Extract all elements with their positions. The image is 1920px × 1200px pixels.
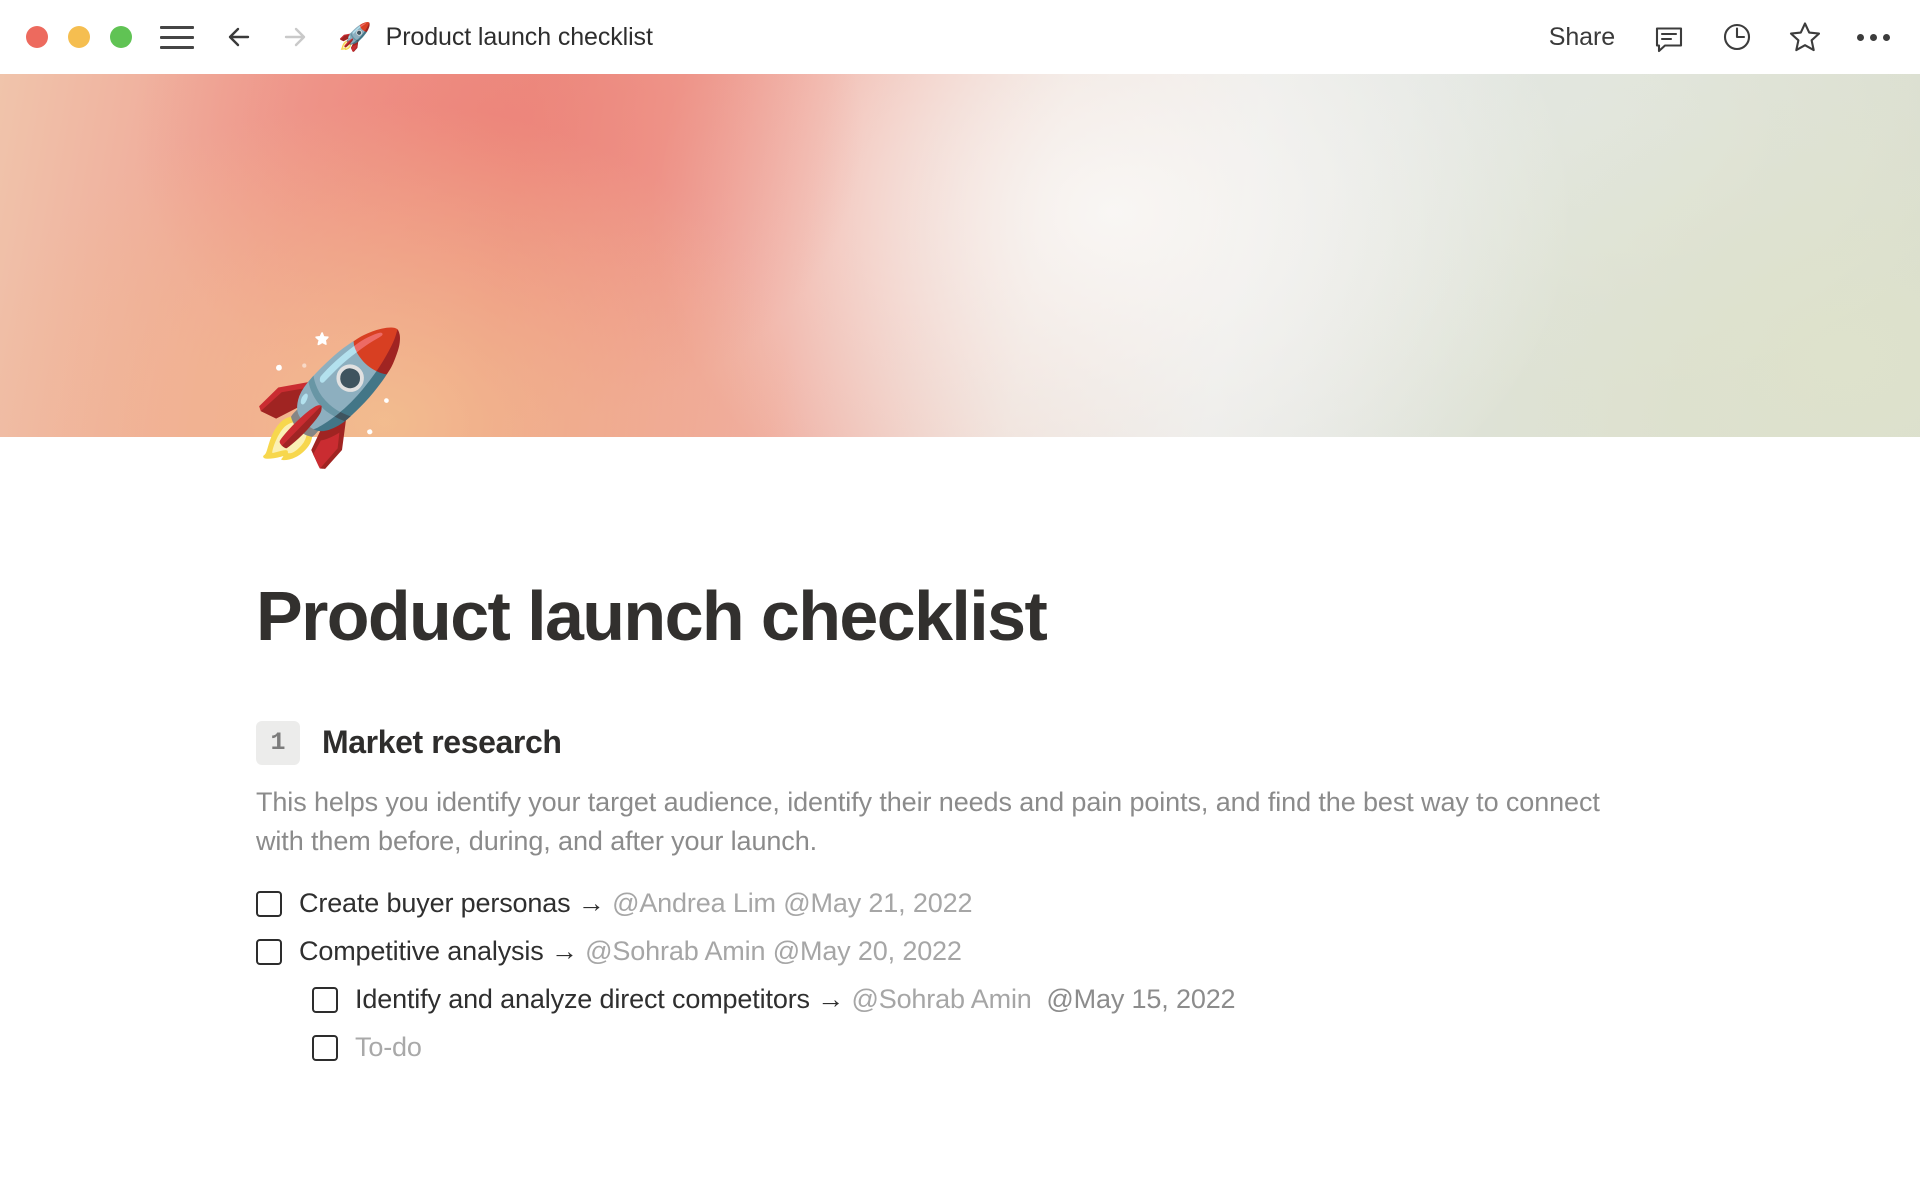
- favorite-button[interactable]: [1787, 19, 1823, 55]
- todo-checkbox[interactable]: [312, 1035, 338, 1061]
- mention-person[interactable]: @Sohrab Amin: [585, 936, 773, 966]
- section-heading: 1 Market research: [256, 721, 1800, 765]
- share-button[interactable]: Share: [1545, 21, 1619, 54]
- todo-item[interactable]: Identify and analyze direct competitors …: [256, 976, 1800, 1024]
- back-button[interactable]: [222, 20, 256, 54]
- window-titlebar: 🚀 Product launch checklist Share: [0, 0, 1920, 74]
- star-icon: [1787, 19, 1823, 55]
- mention-person[interactable]: @Andrea Lim: [612, 888, 783, 918]
- page-title[interactable]: Product launch checklist: [256, 437, 1800, 654]
- rocket-icon: 🚀: [338, 24, 372, 51]
- more-dot: [1883, 34, 1890, 41]
- todo-placeholder-label: To-do: [355, 1032, 422, 1062]
- todo-list: Create buyer personas → @Andrea Lim @May…: [256, 880, 1800, 1071]
- more-dot: [1857, 34, 1864, 41]
- todo-text[interactable]: Identify and analyze direct competitors …: [355, 983, 1235, 1017]
- todo-text[interactable]: To-do: [355, 1031, 422, 1065]
- mention-date[interactable]: @May 21, 2022: [783, 888, 972, 918]
- todo-label: Create buyer personas: [299, 888, 578, 918]
- section-number-badge: 1: [256, 721, 300, 765]
- todo-checkbox[interactable]: [256, 939, 282, 965]
- todo-item[interactable]: Competitive analysis → @Sohrab Amin @May…: [256, 928, 1800, 976]
- mention-person[interactable]: @Sohrab Amin: [851, 984, 1046, 1014]
- comments-button[interactable]: [1651, 19, 1687, 55]
- arrow-left-icon: [222, 20, 256, 54]
- window-maximize-button[interactable]: [110, 26, 132, 48]
- section-paragraph[interactable]: This helps you identify your target audi…: [256, 783, 1616, 863]
- window-close-button[interactable]: [26, 26, 48, 48]
- arrow-right-icon: [278, 20, 312, 54]
- hamburger-line: [160, 26, 194, 29]
- hamburger-menu-icon[interactable]: [158, 22, 196, 52]
- arrow-right-glyph-icon: →: [551, 936, 585, 966]
- page-body: 🚀 Product launch checklist 1 Market rese…: [0, 437, 1920, 1071]
- history-button[interactable]: [1719, 19, 1755, 55]
- todo-text[interactable]: Create buyer personas → @Andrea Lim @May…: [299, 887, 972, 921]
- arrow-right-glyph-icon: →: [817, 984, 851, 1014]
- clock-icon: [1719, 19, 1755, 55]
- comment-icon: [1651, 19, 1687, 55]
- topbar-actions: Share: [1545, 19, 1892, 55]
- todo-text[interactable]: Competitive analysis → @Sohrab Amin @May…: [299, 935, 962, 969]
- hamburger-line: [160, 46, 194, 49]
- breadcrumb-title: Product launch checklist: [386, 23, 653, 52]
- mention-date[interactable]: @May 15, 2022: [1046, 984, 1235, 1014]
- navigation-arrows: [222, 20, 312, 54]
- forward-button[interactable]: [278, 20, 312, 54]
- page-rocket-icon[interactable]: 🚀: [250, 334, 409, 462]
- more-dot: [1870, 34, 1877, 41]
- window-minimize-button[interactable]: [68, 26, 90, 48]
- hamburger-line: [160, 36, 194, 39]
- more-options-button[interactable]: [1855, 28, 1892, 47]
- traffic-lights: [26, 26, 132, 48]
- todo-label: Competitive analysis: [299, 936, 551, 966]
- arrow-right-glyph-icon: →: [578, 888, 612, 918]
- breadcrumb[interactable]: 🚀 Product launch checklist: [338, 23, 653, 52]
- section-heading-text[interactable]: Market research: [322, 724, 562, 761]
- mention-date[interactable]: @May 20, 2022: [773, 936, 962, 966]
- todo-checkbox[interactable]: [256, 891, 282, 917]
- todo-checkbox[interactable]: [312, 987, 338, 1013]
- todo-item[interactable]: Create buyer personas → @Andrea Lim @May…: [256, 880, 1800, 928]
- todo-label: Identify and analyze direct competitors: [355, 984, 817, 1014]
- todo-item[interactable]: To-do: [256, 1024, 1800, 1072]
